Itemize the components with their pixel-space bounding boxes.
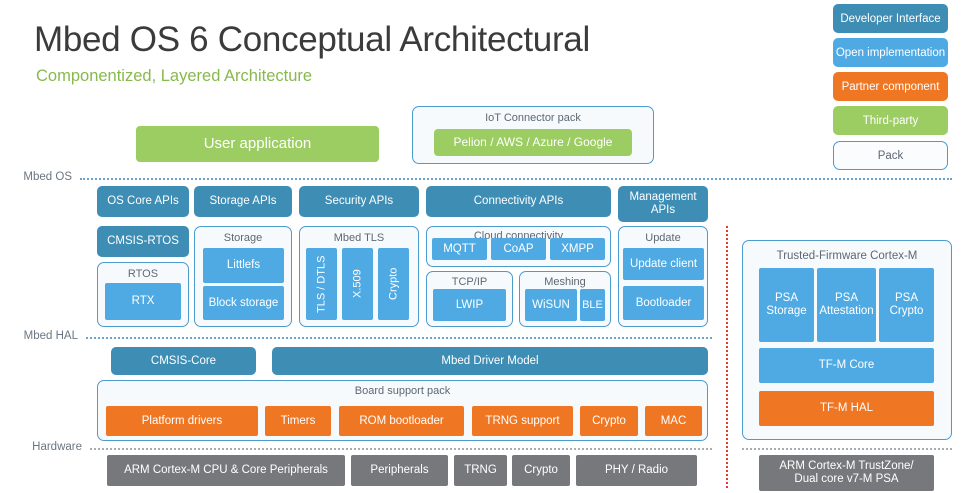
iot-connector-providers-label: Pelion / AWS / Azure / Google (454, 136, 613, 149)
cmsis-core-block: CMSIS-Core (111, 347, 256, 375)
layer-label-mbed-hal: Mbed HAL (0, 330, 78, 342)
block-storage-block: Block storage (203, 286, 284, 320)
iot-connector-providers-block: Pelion / AWS / Azure / Google (434, 129, 632, 156)
layer-rule-mbed-os (80, 178, 952, 180)
mbed-driver-model-block: Mbed Driver Model (272, 347, 708, 375)
block-storage-label: Block storage (209, 297, 279, 310)
user-application-label: User application (204, 136, 312, 153)
mqtt-block: MQTT (432, 238, 487, 260)
legend-label: Pack (878, 150, 904, 162)
littlefs-block: Littlefs (203, 248, 284, 283)
bsp-item-label: Crypto (592, 415, 626, 428)
api-security-label: Security APIs (325, 195, 393, 208)
bsp-item-label: MAC (661, 415, 687, 428)
tls-crypto-label: Crypto (387, 268, 399, 300)
psa-crypto-block: PSA Crypto (879, 268, 934, 342)
littlefs-label: Littlefs (227, 259, 260, 272)
rtx-block: RTX (105, 283, 181, 320)
legend-label: Third-party (863, 115, 919, 127)
tls-dtls-label: TLS / DTLS (315, 255, 327, 312)
tfm-hardware-label-line2: Dual core v7-M PSA (794, 473, 898, 486)
user-application-block: User application (136, 126, 379, 162)
lwip-label: LWIP (456, 299, 483, 312)
hw-item-label: ARM Cortex-M CPU & Core Peripherals (124, 464, 328, 477)
iot-connector-pack-title: IoT Connector pack (413, 112, 653, 124)
layer-rule-hardware-right (742, 448, 952, 450)
layer-rule-mbed-hal (86, 337, 712, 339)
trusted-firmware-pack-title: Trusted-Firmware Cortex-M (743, 250, 951, 262)
ble-label: BLE (582, 299, 603, 311)
bsp-platform-drivers: Platform drivers (106, 406, 258, 436)
tfm-core-block: TF-M Core (759, 348, 934, 383)
xmpp-block: XMPP (550, 238, 605, 260)
legend-item-open-implementation: Open implementation (833, 38, 948, 67)
coap-label: CoAP (503, 243, 533, 256)
tfm-core-label: TF-M Core (819, 359, 875, 372)
tls-crypto-block: Crypto (378, 248, 409, 320)
bsp-timers: Timers (265, 406, 331, 436)
cmsis-rtos-label: CMSIS-RTOS (107, 235, 179, 248)
bsp-mac: MAC (645, 406, 702, 436)
tfm-hardware-label-line1: ARM Cortex-M TrustZone/ (779, 460, 913, 473)
layer-rule-hardware (90, 448, 712, 450)
hw-item-label: Peripherals (370, 464, 428, 477)
legend-label: Developer Interface (840, 13, 940, 25)
hw-item-label: TRNG (464, 464, 497, 477)
psa-attestation-block: PSA Attestation (817, 268, 876, 342)
x509-block: X.509 (342, 248, 373, 320)
api-storage: Storage APIs (194, 186, 292, 217)
psa-storage-block: PSA Storage (759, 268, 814, 342)
ble-block: BLE (580, 289, 605, 321)
hw-arm-cortex-m-cpu: ARM Cortex-M CPU & Core Peripherals (107, 455, 345, 486)
bootloader-label: Bootloader (636, 297, 692, 310)
x509-label: X.509 (351, 270, 363, 299)
rtos-pack-title: RTOS (98, 268, 188, 280)
api-storage-label: Storage APIs (209, 195, 276, 208)
api-connectivity-label: Connectivity APIs (474, 195, 563, 208)
legend-item-third-party: Third-party (833, 106, 948, 135)
api-management: Management APIs (618, 186, 708, 222)
xmpp-label: XMPP (561, 243, 594, 256)
legend-item-pack: Pack (833, 141, 948, 170)
psa-storage-label: PSA Storage (759, 292, 814, 317)
lwip-block: LWIP (433, 289, 506, 321)
api-os-core-label: OS Core APIs (107, 195, 179, 208)
tfm-hal-label: TF-M HAL (820, 402, 873, 415)
bsp-rom-bootloader: ROM bootloader (339, 406, 464, 436)
coap-block: CoAP (491, 238, 546, 260)
legend-label: Partner component (842, 81, 940, 93)
page-subtitle: Componentized, Layered Architecture (36, 67, 312, 86)
hw-trng: TRNG (454, 455, 507, 486)
bsp-item-label: Platform drivers (142, 415, 223, 428)
mbed-driver-model-label: Mbed Driver Model (441, 355, 538, 368)
layer-label-hardware: Hardware (0, 441, 82, 453)
hw-peripherals: Peripherals (351, 455, 448, 486)
cmsis-core-label: CMSIS-Core (151, 355, 216, 368)
mbed-tls-pack-title: Mbed TLS (300, 232, 418, 244)
diagram-canvas: Mbed OS 6 Conceptual Architectural Compo… (0, 0, 961, 493)
api-management-label: Management APIs (618, 191, 708, 216)
hw-crypto: Crypto (512, 455, 570, 486)
psa-crypto-label: PSA Crypto (879, 292, 934, 317)
update-client-label: Update client (630, 258, 697, 271)
api-security: Security APIs (299, 186, 419, 217)
api-os-core: OS Core APIs (97, 186, 189, 217)
mqtt-label: MQTT (443, 243, 476, 256)
tcpip-pack-title: TCP/IP (427, 276, 512, 288)
hw-phy-radio: PHY / Radio (576, 455, 697, 486)
bsp-item-label: TRNG support (485, 415, 559, 428)
hw-item-label: Crypto (524, 464, 558, 477)
section-divider (726, 226, 728, 488)
tls-dtls-block: TLS / DTLS (306, 248, 337, 320)
api-connectivity: Connectivity APIs (426, 186, 611, 217)
page-title: Mbed OS 6 Conceptual Architectural (34, 20, 590, 60)
bsp-item-label: ROM bootloader (359, 415, 443, 428)
wisun-label: WiSUN (532, 299, 570, 312)
hw-item-label: PHY / Radio (605, 464, 668, 477)
board-support-pack-title: Board support pack (98, 385, 707, 397)
cmsis-rtos-block: CMSIS-RTOS (97, 226, 189, 257)
legend-item-partner-component: Partner component (833, 72, 948, 101)
wisun-block: WiSUN (525, 289, 577, 321)
bsp-item-label: Timers (281, 415, 316, 428)
update-client-block: Update client (623, 248, 704, 280)
legend-label: Open implementation (836, 47, 945, 59)
update-pack-title: Update (619, 232, 707, 244)
bootloader-block: Bootloader (623, 286, 704, 320)
layer-label-mbed-os: Mbed OS (0, 171, 72, 183)
psa-attestation-label: PSA Attestation (817, 292, 876, 317)
bsp-trng-support: TRNG support (472, 406, 573, 436)
storage-pack-title: Storage (195, 232, 291, 244)
tfm-hal-block: TF-M HAL (759, 391, 934, 426)
tfm-hardware-block: ARM Cortex-M TrustZone/ Dual core v7-M P… (759, 455, 934, 491)
meshing-pack-title: Meshing (520, 276, 610, 288)
legend-item-developer-interface: Developer Interface (833, 4, 948, 33)
bsp-crypto: Crypto (580, 406, 638, 436)
rtx-label: RTX (132, 295, 155, 308)
